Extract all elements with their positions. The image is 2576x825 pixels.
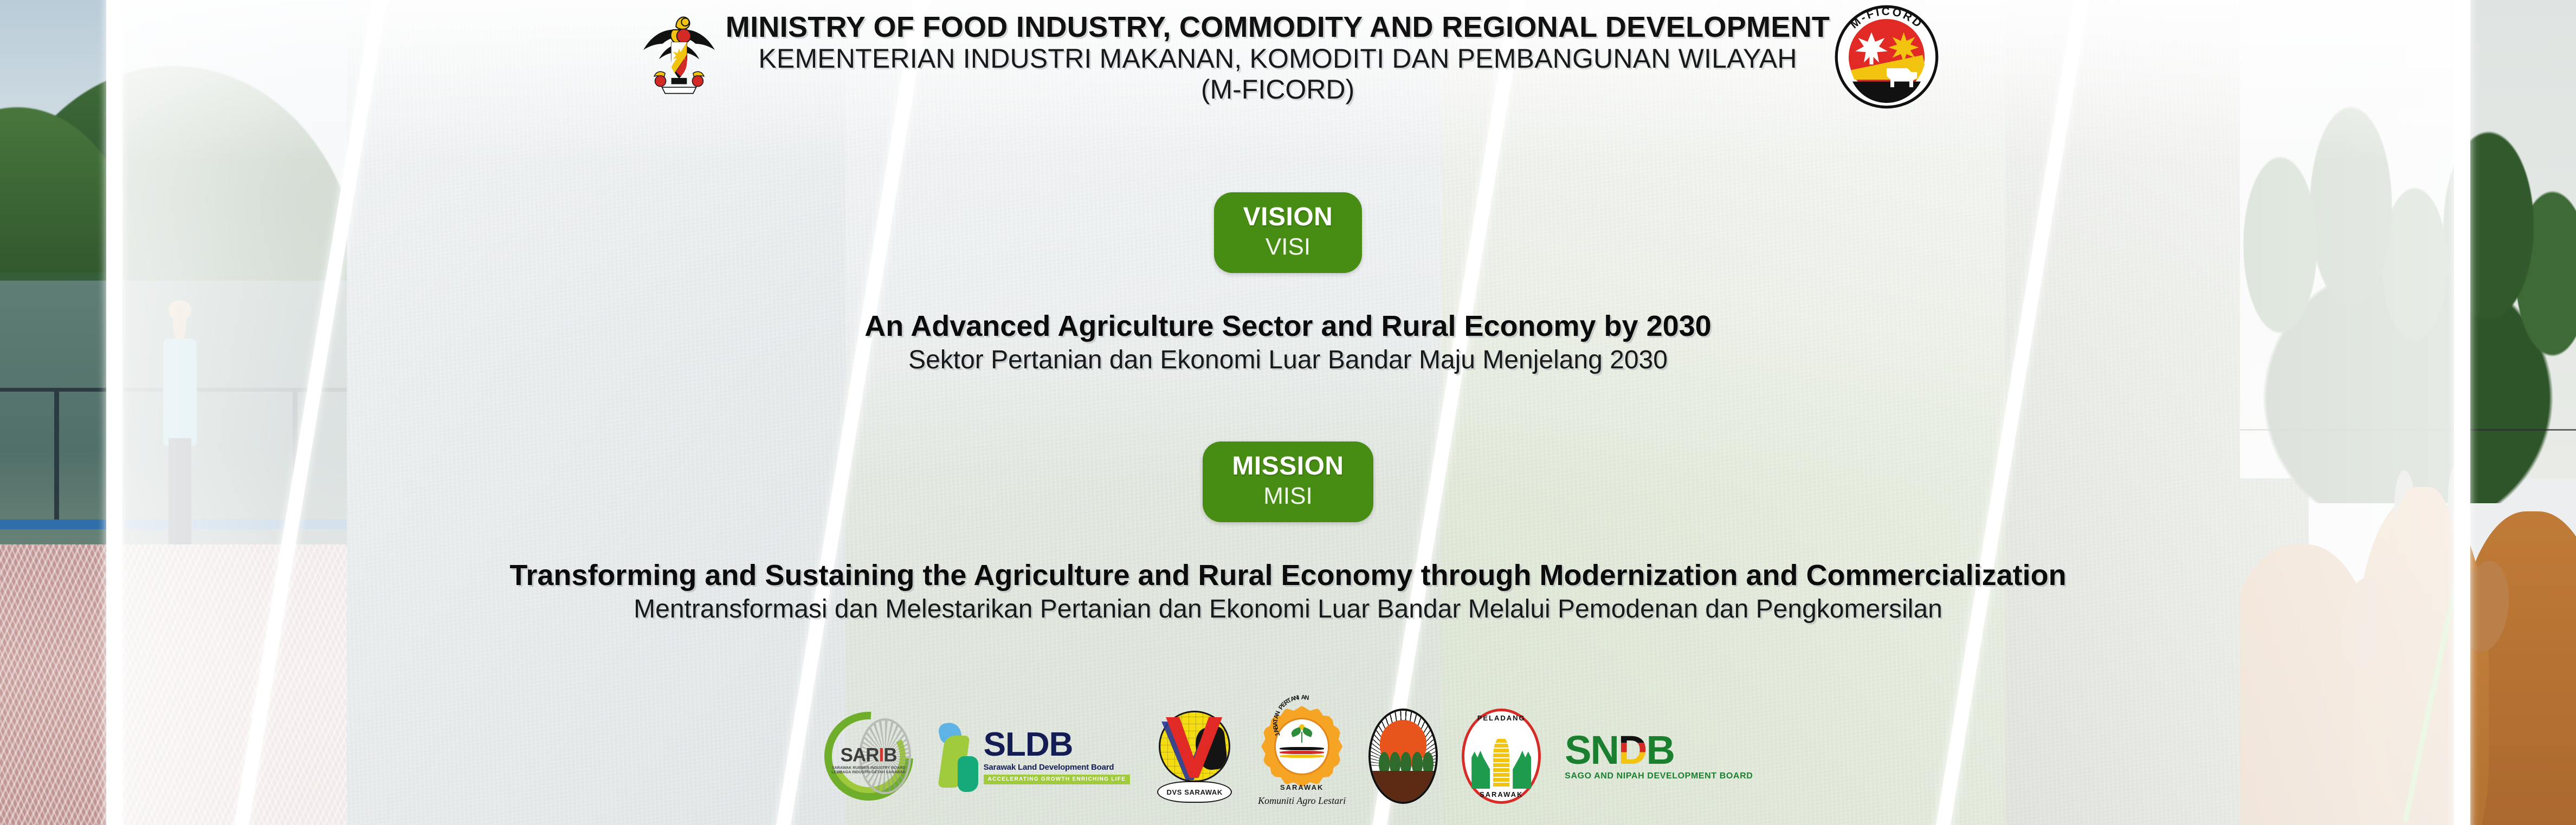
jabatan-ring-top: JABATAN PERTANIAN: [1259, 706, 1345, 807]
sarib-logo-icon: SARIB SARAWAK RUBBER INDUSTRY BOARD LEMB…: [823, 711, 914, 802]
sldb-tagline: ACCELERATING GROWTH ENRICHING LIFE: [984, 775, 1131, 784]
agency-logo-padi: [1368, 709, 1438, 804]
sndb-acronym-part-sn: SN: [1565, 727, 1618, 772]
sndb-acronym: SNDB: [1565, 731, 1753, 769]
sarib-acronym-part-a: SAR: [841, 744, 879, 765]
mission-pill-label-en: MISSION: [1232, 451, 1344, 482]
vision-pill-label-ms: VISI: [1243, 233, 1333, 261]
peladang-ring-bottom: SARAWAK: [1462, 790, 1541, 798]
ministry-title-ms: KEMENTERIAN INDUSTRI MAKANAN, KOMODITI D…: [726, 43, 1830, 74]
m-ficord-logo-icon: M-FICORD: [1830, 0, 1944, 114]
dvs-ribbon-label: DVS SARAWAK: [1166, 788, 1222, 796]
agency-logo-sarib: SARIB SARAWAK RUBBER INDUSTRY BOARD LEMB…: [823, 711, 914, 802]
sarib-acronym-part-i: I: [879, 744, 884, 765]
agency-logo-strip: SARIB SARAWAK RUBBER INDUSTRY BOARD LEMB…: [0, 694, 2576, 818]
sldb-name-en: Sarawak Land Development Board: [984, 763, 1131, 771]
sldb-text-block: SLDB Sarawak Land Development Board ACCE…: [984, 728, 1131, 784]
agency-logo-sldb: SLDB Sarawak Land Development Board ACCE…: [938, 719, 1131, 793]
agency-logo-dvs: DVS SARAWAK: [1154, 710, 1235, 803]
banner-content: MINISTRY OF FOOD INDUSTRY, COMMODITY AND…: [0, 0, 2576, 825]
agency-logo-jabatan-pertanian: SARAWAK Komuniti Agro Lestari JABATAN PE…: [1259, 706, 1345, 807]
wheat-icon: [1493, 738, 1509, 787]
jabatan-pertanian-logo-icon: SARAWAK Komuniti Agro Lestari JABATAN PE…: [1259, 706, 1345, 807]
peladang-hands: [1471, 730, 1531, 789]
sldb-acronym: SLDB: [984, 728, 1131, 762]
vision-pill-label-en: VISION: [1243, 202, 1333, 233]
ministry-title-abbr: (M-FICORD): [726, 74, 1830, 105]
mission-pill: MISSION MISI: [1203, 441, 1373, 522]
mission-statement-en: Transforming and Sustaining the Agricult…: [0, 558, 2576, 593]
dvs-ribbon: DVS SARAWAK: [1157, 781, 1232, 803]
sldb-logo-icon: SLDB Sarawak Land Development Board ACCE…: [938, 719, 1131, 793]
ministry-titles: MINISTRY OF FOOD INDUSTRY, COMMODITY AND…: [726, 4, 1830, 105]
agency-logo-sndb: SNDB SAGO AND NIPAH DEVELOPMENT BOARD: [1565, 731, 1753, 781]
ministry-title-en: MINISTRY OF FOOD INDUSTRY, COMMODITY AND…: [726, 11, 1830, 43]
sndb-acronym-part-d: D: [1618, 731, 1646, 769]
sldb-mark: [938, 719, 978, 793]
peladang-logo-icon: PELADANG SARAWAK: [1462, 709, 1541, 804]
sarawak-coat-of-arms-icon: [632, 7, 726, 100]
vision-statement-ms: Sektor Pertanian dan Ekonomi Luar Bandar…: [0, 344, 2576, 376]
mission-pill-wrap: MISSION MISI: [0, 441, 2576, 522]
sarib-acronym-part-b: B: [883, 744, 896, 765]
sarib-name-ms: LEMBAGA INDUSTRI GETAH SARAWAK: [825, 771, 912, 776]
sndb-name-en: SAGO AND NIPAH DEVELOPMENT BOARD: [1565, 771, 1753, 781]
vision-pill-wrap: VISION VISI: [0, 192, 2576, 273]
padi-ellipse: [1368, 709, 1438, 804]
dvs-logo-icon: DVS SARAWAK: [1154, 710, 1235, 803]
mission-statement: Transforming and Sustaining the Agricult…: [0, 558, 2576, 626]
sarib-acronym: SARIB: [825, 744, 912, 766]
vision-statement-en: An Advanced Agriculture Sector and Rural…: [0, 309, 2576, 344]
sndb-logo-icon: SNDB SAGO AND NIPAH DEVELOPMENT BOARD: [1565, 731, 1753, 781]
ministry-vision-mission-banner: MINISTRY OF FOOD INDUSTRY, COMMODITY AND…: [0, 0, 2576, 825]
sldb-teal-shape: [958, 756, 978, 792]
sndb-acronym-part-b: B: [1646, 727, 1674, 772]
padi-soil: [1371, 771, 1436, 802]
sarib-text-block: SARIB SARAWAK RUBBER INDUSTRY BOARD LEMB…: [825, 744, 912, 776]
mission-pill-label-ms: MISI: [1232, 482, 1344, 510]
mission-statement-ms: Mentransformasi dan Melestarikan Pertani…: [0, 593, 2576, 626]
vision-pill: VISION VISI: [1214, 192, 1363, 273]
peladang-ring-top: PELADANG: [1462, 714, 1541, 722]
sarib-name-en: SARAWAK RUBBER INDUSTRY BOARD: [825, 766, 912, 771]
agency-logo-peladang: PELADANG SARAWAK: [1462, 709, 1541, 804]
banner-header: MINISTRY OF FOOD INDUSTRY, COMMODITY AND…: [0, 4, 2576, 114]
hand-right: [1513, 746, 1531, 789]
vision-statement: An Advanced Agriculture Sector and Rural…: [0, 309, 2576, 376]
padi-emblem-icon: [1368, 709, 1438, 804]
hand-left: [1471, 746, 1490, 789]
